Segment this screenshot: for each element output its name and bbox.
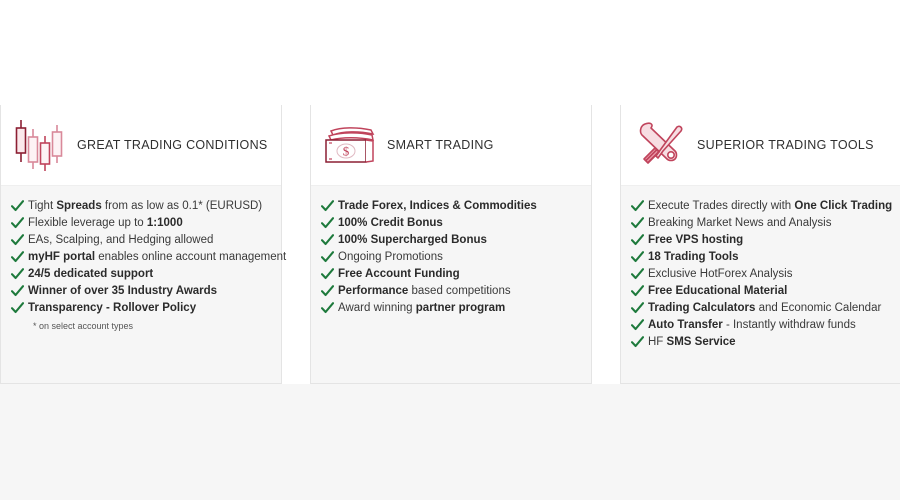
card-header: $ SMART TRADING [311, 105, 591, 186]
list-item-label: Auto Transfer - Instantly withdraw funds [648, 317, 856, 333]
feature-card-2: $ SMART TRADINGTrade Forex, Indices & Co… [310, 105, 592, 384]
list-item-label: Transparency - Rollover Policy [28, 300, 196, 316]
feature-card-3: SUPERIOR TRADING TOOLSExecute Trades dir… [620, 105, 900, 384]
page-bottom-band [0, 384, 900, 500]
list-item: 18 Trading Tools [631, 249, 900, 265]
check-icon [11, 233, 24, 247]
check-icon [321, 216, 334, 230]
check-icon [321, 284, 334, 298]
check-icon [321, 284, 334, 298]
check-icon [631, 301, 644, 315]
list-item: EAs, Scalping, and Hedging allowed [11, 232, 273, 248]
list-item: Tight Spreads from as low as 0.1* (EURUS… [11, 198, 273, 214]
list-item-label: Breaking Market News and Analysis [648, 215, 831, 231]
check-icon [11, 250, 24, 264]
list-item: HF SMS Service [631, 334, 900, 350]
check-icon [631, 267, 644, 281]
check-icon [321, 233, 334, 247]
svg-text:$: $ [343, 144, 350, 159]
list-item-label: Winner of over 35 Industry Awards [28, 283, 217, 299]
list-item-label: EAs, Scalping, and Hedging allowed [28, 232, 213, 248]
list-item-label: Performance based competitions [338, 283, 511, 299]
list-item-label: Flexible leverage up to 1:1000 [28, 215, 183, 231]
list-item-label: Trading Calculators and Economic Calenda… [648, 300, 881, 316]
list-item: 100% Credit Bonus [321, 215, 583, 231]
card-body: Execute Trades directly with One Click T… [621, 186, 900, 383]
card-body: Trade Forex, Indices & Commodities100% C… [311, 186, 591, 383]
list-item: Free VPS hosting [631, 232, 900, 248]
check-icon [11, 284, 24, 298]
check-icon [321, 199, 334, 213]
cash-notes-icon: $ [321, 120, 379, 170]
list-item: Exclusive HotForex Analysis [631, 266, 900, 282]
footnote: * on select account types [33, 321, 273, 331]
card-header: GREAT TRADING CONDITIONS [1, 105, 281, 186]
list-item-label: Ongoing Promotions [338, 249, 443, 265]
list-item: Execute Trades directly with One Click T… [631, 198, 900, 214]
check-icon [321, 216, 334, 230]
list-item-label: 100% Supercharged Bonus [338, 232, 487, 248]
list-item-label: Tight Spreads from as low as 0.1* (EURUS… [28, 198, 262, 214]
card-body: Tight Spreads from as low as 0.1* (EURUS… [1, 186, 281, 383]
list-item: Trading Calculators and Economic Calenda… [631, 300, 900, 316]
feature-card-1: GREAT TRADING CONDITIONSTight Spreads fr… [0, 105, 282, 384]
check-icon [11, 301, 24, 315]
check-icon [11, 199, 24, 213]
list-item: Free Educational Material [631, 283, 900, 299]
tools-wrench-screwdriver-icon [629, 114, 691, 176]
check-icon [321, 250, 334, 264]
check-icon [631, 233, 644, 247]
check-icon [321, 267, 334, 281]
check-icon [11, 199, 24, 213]
candlestick-chart-icon [9, 114, 71, 176]
check-icon [631, 216, 644, 230]
cash-notes-icon: $ [319, 114, 381, 176]
check-icon [631, 250, 644, 264]
check-icon [631, 318, 644, 332]
list-item: Trade Forex, Indices & Commodities [321, 198, 583, 214]
check-icon [321, 301, 334, 315]
check-icon [631, 250, 644, 264]
check-icon [11, 216, 24, 230]
list-item-label: Free VPS hosting [648, 232, 743, 248]
check-icon [11, 233, 24, 247]
card-header: SUPERIOR TRADING TOOLS [621, 105, 900, 186]
list-item-label: Award winning partner program [338, 300, 505, 316]
card-title: GREAT TRADING CONDITIONS [77, 138, 268, 152]
check-icon [631, 284, 644, 298]
feature-list: Tight Spreads from as low as 0.1* (EURUS… [11, 198, 273, 316]
list-item: myHF portal enables online account manag… [11, 249, 273, 265]
list-item-label: 100% Credit Bonus [338, 215, 443, 231]
list-item: Free Account Funding [321, 266, 583, 282]
list-item-label: 24/5 dedicated support [28, 266, 153, 282]
check-icon [631, 216, 644, 230]
list-item: 24/5 dedicated support [11, 266, 273, 282]
check-icon [321, 233, 334, 247]
list-item: Transparency - Rollover Policy [11, 300, 273, 316]
candlestick-chart-icon [12, 115, 68, 175]
check-icon [631, 335, 644, 349]
list-item-label: Trade Forex, Indices & Commodities [338, 198, 537, 214]
card-title: SUPERIOR TRADING TOOLS [697, 138, 874, 152]
card-title: SMART TRADING [387, 138, 494, 152]
feature-list: Execute Trades directly with One Click T… [631, 198, 900, 350]
list-item-label: HF SMS Service [648, 334, 736, 350]
check-icon [631, 318, 644, 332]
check-icon [11, 284, 24, 298]
check-icon [11, 301, 24, 315]
list-item: Ongoing Promotions [321, 249, 583, 265]
list-item: Flexible leverage up to 1:1000 [11, 215, 273, 231]
check-icon [11, 250, 24, 264]
check-icon [11, 267, 24, 281]
list-item-label: Free Account Funding [338, 266, 460, 282]
tools-wrench-screwdriver-icon [633, 118, 687, 172]
check-icon [631, 233, 644, 247]
check-icon [11, 216, 24, 230]
feature-cards-container: GREAT TRADING CONDITIONSTight Spreads fr… [0, 105, 900, 384]
list-item: Auto Transfer - Instantly withdraw funds [631, 317, 900, 333]
list-item-label: Free Educational Material [648, 283, 787, 299]
list-item: Breaking Market News and Analysis [631, 215, 900, 231]
page-root: GREAT TRADING CONDITIONSTight Spreads fr… [0, 0, 900, 500]
check-icon [631, 335, 644, 349]
check-icon [631, 199, 644, 213]
check-icon [631, 267, 644, 281]
check-icon [321, 199, 334, 213]
check-icon [631, 199, 644, 213]
list-item: 100% Supercharged Bonus [321, 232, 583, 248]
check-icon [631, 284, 644, 298]
list-item: Award winning partner program [321, 300, 583, 316]
check-icon [11, 267, 24, 281]
check-icon [321, 267, 334, 281]
check-icon [321, 250, 334, 264]
check-icon [631, 301, 644, 315]
list-item: Winner of over 35 Industry Awards [11, 283, 273, 299]
list-item-label: Exclusive HotForex Analysis [648, 266, 792, 282]
list-item-label: Execute Trades directly with One Click T… [648, 198, 892, 214]
check-icon [321, 301, 334, 315]
list-item-label: 18 Trading Tools [648, 249, 739, 265]
list-item: Performance based competitions [321, 283, 583, 299]
list-item-label: myHF portal enables online account manag… [28, 249, 286, 265]
feature-list: Trade Forex, Indices & Commodities100% C… [321, 198, 583, 316]
